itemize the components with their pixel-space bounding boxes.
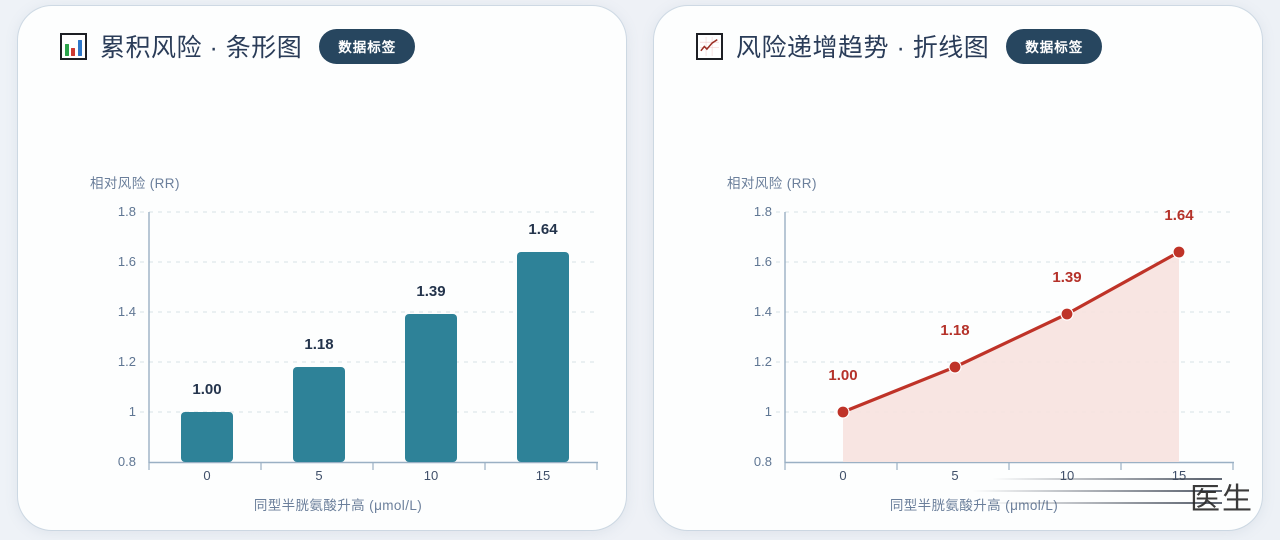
- bar-chart-icon: [60, 33, 87, 60]
- line-ytick: 1.2: [726, 354, 772, 369]
- bar-xtick: 0: [177, 468, 237, 483]
- line-card-header: 风险递增趋势 · 折线图 数据标签: [654, 6, 1262, 64]
- bar-item: [517, 252, 569, 462]
- line-ytick: 1.6: [726, 254, 772, 269]
- line-chart-icon-glyph: [700, 37, 719, 56]
- line-marker: [1061, 308, 1073, 320]
- line-chart-card: 风险递增趋势 · 折线图 数据标签 相对风险 (RR): [654, 6, 1262, 530]
- bar-xtick: 10: [401, 468, 461, 483]
- bar-ytick: 0.8: [90, 454, 136, 469]
- bar-data-label: 1.39: [391, 283, 471, 300]
- bar-card-header: 累积风险 · 条形图 数据标签: [18, 6, 626, 64]
- bar-card-title: 累积风险 · 条形图: [100, 28, 302, 64]
- bar-card-badge[interactable]: 数据标签: [319, 29, 415, 64]
- bar-xtick: 5: [289, 468, 349, 483]
- line-ytick: 1.8: [726, 204, 772, 219]
- bar-item: [405, 314, 457, 462]
- bar-chart-card: 累积风险 · 条形图 数据标签 相对风险 (RR): [18, 6, 626, 530]
- bar-data-label: 1.00: [167, 381, 247, 398]
- bar-ytick: 1.2: [90, 354, 136, 369]
- line-data-label: 1.39: [1027, 269, 1107, 286]
- line-area-fill: [843, 252, 1179, 462]
- bar-x-axis-title: 同型半胱氨酸升高 (μmol/L): [178, 494, 498, 514]
- line-data-label: 1.18: [915, 322, 995, 339]
- bar-ytick: 1.8: [90, 204, 136, 219]
- line-ytick: 1.4: [726, 304, 772, 319]
- line-xtick: 15: [1149, 468, 1209, 483]
- line-chart-icon: [696, 33, 723, 60]
- line-data-label: 1.64: [1139, 207, 1219, 224]
- line-marker: [1173, 246, 1185, 258]
- line-ytick: 1: [726, 404, 772, 419]
- bar-item: [293, 367, 345, 462]
- line-ytick: 0.8: [726, 454, 772, 469]
- bar-data-label: 1.64: [503, 221, 583, 238]
- line-card-badge[interactable]: 数据标签: [1006, 29, 1102, 64]
- line-chart-svg: [654, 64, 1254, 484]
- line-xtick: 5: [925, 468, 985, 483]
- bar-ytick: 1: [90, 404, 136, 419]
- line-xtick: 10: [1037, 468, 1097, 483]
- bar-xtick: 15: [513, 468, 573, 483]
- bar-chart-svg: [18, 64, 618, 484]
- bar-ytick: 1.4: [90, 304, 136, 319]
- line-card-title: 风险递增趋势 · 折线图: [736, 28, 989, 64]
- line-x-axis-title: 同型半胱氨酸升高 (μmol/L): [814, 494, 1134, 514]
- line-xtick: 0: [813, 468, 873, 483]
- line-marker: [949, 361, 961, 373]
- bar-item: [181, 412, 233, 462]
- page-root: 累积风险 · 条形图 数据标签 相对风险 (RR): [0, 0, 1280, 540]
- bar-data-label: 1.18: [279, 336, 359, 353]
- line-marker: [837, 406, 849, 418]
- bar-ytick: 1.6: [90, 254, 136, 269]
- line-data-label: 1.00: [803, 367, 883, 384]
- bar-series: [181, 252, 569, 462]
